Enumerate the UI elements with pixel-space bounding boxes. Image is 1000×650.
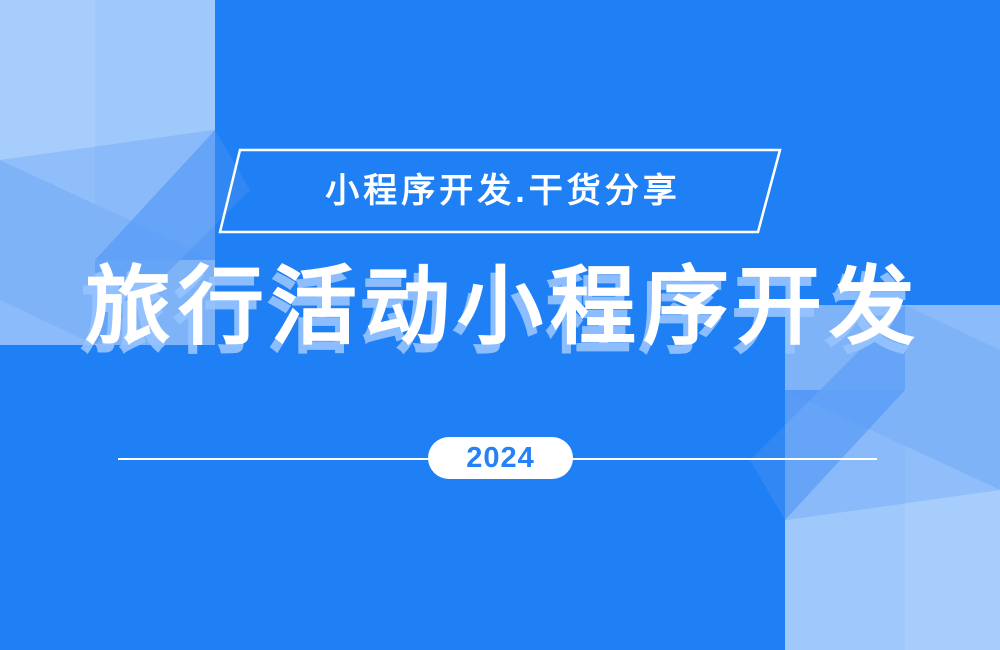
decor-shape-tl-3 [0, 0, 215, 160]
decor-shape-br-3 [785, 490, 1000, 650]
banner-subtitle: 小程序开发.干货分享 [0, 148, 1000, 234]
year-badge: 2024 [428, 437, 573, 479]
divider-line-left [118, 458, 428, 460]
year-row: 2024 [0, 437, 1000, 479]
subtitle-block: 小程序开发.干货分享 [0, 148, 1000, 234]
banner-title: 旅行活动小程序开发 [0, 262, 1000, 352]
divider-line-right [572, 458, 877, 460]
promo-banner: 小程序开发.干货分享 旅行活动小程序开发 2024 [0, 0, 1000, 650]
